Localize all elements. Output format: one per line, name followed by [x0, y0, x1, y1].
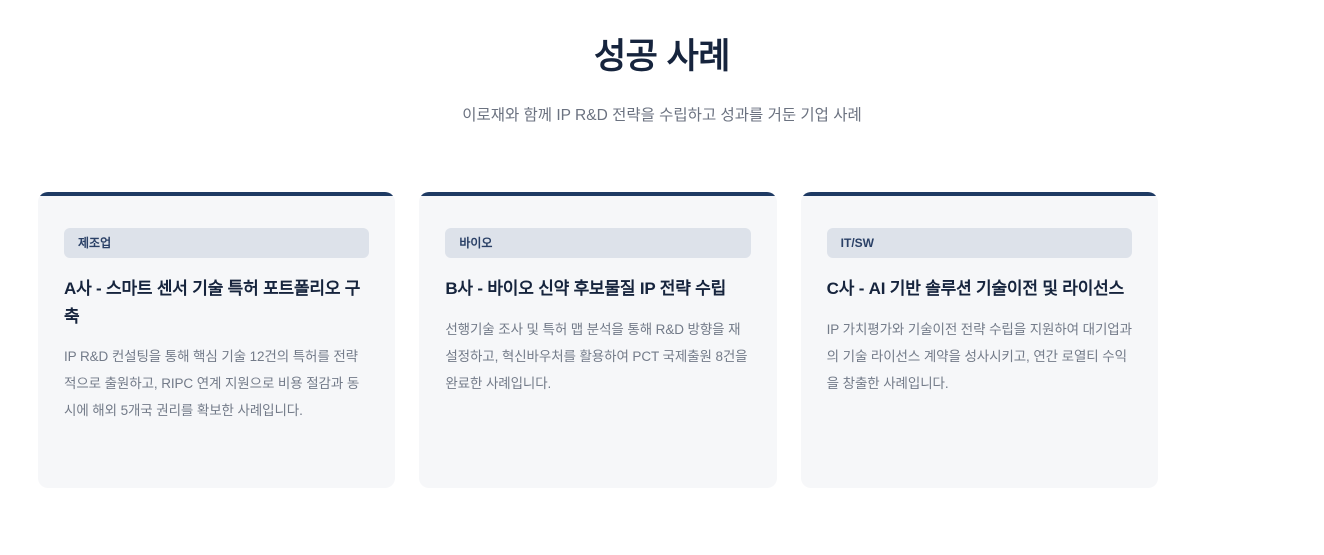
case-description: IP 가치평가와 기술이전 전략 수립을 지원하여 대기업과의 기술 라이선스 … — [827, 316, 1132, 397]
case-category-badge: 제조업 — [64, 228, 369, 258]
case-card-2[interactable]: 바이오 B사 - 바이오 신약 후보물질 IP 전략 수립 선행기술 조사 및 … — [419, 192, 776, 488]
case-title: C사 - AI 기반 솔루션 기술이전 및 라이선스 — [827, 275, 1132, 303]
case-description: IP R&D 컨설팅을 통해 핵심 기술 12건의 특허를 전략적으로 출원하고… — [64, 343, 369, 424]
case-card-1[interactable]: 제조업 A사 - 스마트 센서 기술 특허 포트폴리오 구축 IP R&D 컨설… — [38, 192, 395, 488]
page-title: 성공 사례 — [0, 34, 1324, 80]
case-card-3[interactable]: IT/SW C사 - AI 기반 솔루션 기술이전 및 라이선스 IP 가치평가… — [801, 192, 1158, 488]
page-subtitle: 이로재와 함께 IP R&D 전략을 수립하고 성과를 거둔 기업 사례 — [0, 104, 1324, 129]
success-cases-grid: 제조업 A사 - 스마트 센서 기술 특허 포트폴리오 구축 IP R&D 컨설… — [38, 192, 1158, 488]
section-header: 성공 사례 이로재와 함께 IP R&D 전략을 수립하고 성과를 거둔 기업 … — [0, 0, 1324, 128]
case-title: A사 - 스마트 센서 기술 특허 포트폴리오 구축 — [64, 275, 369, 330]
case-category-badge: 바이오 — [445, 228, 750, 258]
success-cases-page: 성공 사례 이로재와 함께 IP R&D 전략을 수립하고 성과를 거둔 기업 … — [0, 0, 1324, 555]
case-category-badge: IT/SW — [827, 228, 1132, 258]
case-title: B사 - 바이오 신약 후보물질 IP 전략 수립 — [445, 275, 750, 303]
case-description: 선행기술 조사 및 특허 맵 분석을 통해 R&D 방향을 재설정하고, 혁신바… — [445, 316, 750, 397]
